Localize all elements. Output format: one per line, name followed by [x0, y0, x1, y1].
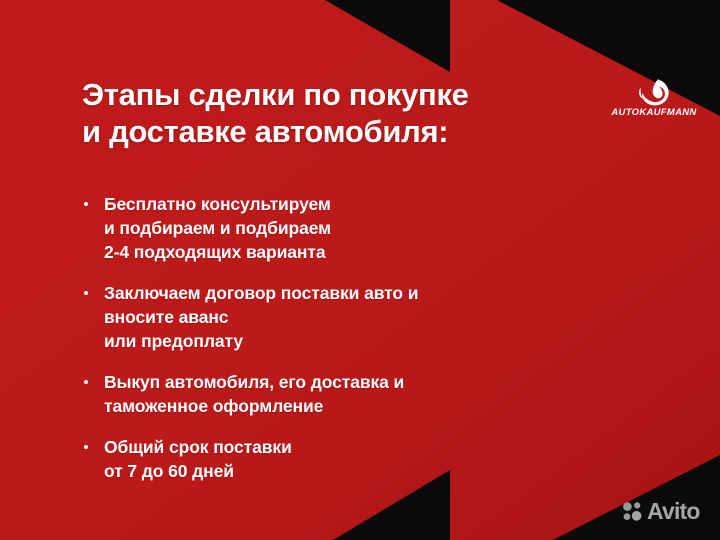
avito-dots-icon — [622, 501, 643, 522]
avito-watermark: Avito — [622, 500, 700, 523]
list-item-line: от 7 до 60 дней — [104, 459, 642, 483]
logo-wordmark: AUTOKAUFMANN — [598, 107, 710, 118]
title-line-1: Этапы сделки по покупке — [82, 76, 612, 113]
list-item-line: вносите аванс — [104, 305, 642, 329]
list-item-line: Бесплатно консультируем — [104, 192, 642, 216]
list-item-line: Общий срок поставки — [104, 435, 642, 459]
bullet-dot-icon — [84, 445, 88, 449]
brand-logo: AUTOKAUFMANN — [598, 78, 710, 118]
flame-swoosh-icon — [637, 78, 671, 106]
list-item-line: таможенное оформление — [104, 394, 642, 418]
title-line-2: и доставке автомобиля: — [82, 113, 612, 150]
bullet-dot-icon — [84, 380, 88, 384]
list-item-line: или предоплату — [104, 329, 642, 353]
list-item: Выкуп автомобиля, его доставка и таможен… — [82, 370, 642, 418]
steps-list: Бесплатно консультируем и подбираем и по… — [82, 192, 642, 500]
list-item: Бесплатно консультируем и подбираем и по… — [82, 192, 642, 264]
bullet-dot-icon — [84, 202, 88, 206]
page-title: Этапы сделки по покупке и доставке автом… — [82, 76, 612, 150]
list-item: Общий срок поставки от 7 до 60 дней — [82, 435, 642, 483]
avito-wordmark: Avito — [647, 500, 700, 523]
list-item-line: и подбираем и подбираем — [104, 216, 642, 240]
bullet-dot-icon — [84, 291, 88, 295]
promo-poster: Этапы сделки по покупке и доставке автом… — [0, 0, 720, 540]
list-item-line: 2-4 подходящих варианта — [104, 240, 642, 264]
list-item: Заключаем договор поставки авто и вносит… — [82, 281, 642, 353]
list-item-line: Выкуп автомобиля, его доставка и — [104, 370, 642, 394]
list-item-line: Заключаем договор поставки авто и — [104, 281, 642, 305]
